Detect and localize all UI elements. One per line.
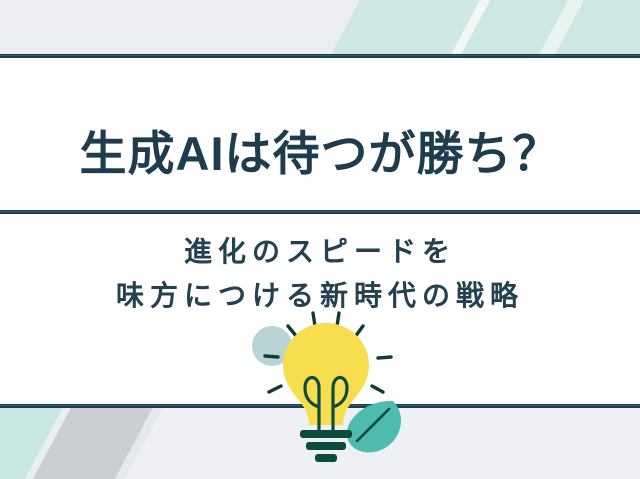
- divider-middle: [0, 210, 640, 214]
- bulb-base-icon: [300, 430, 352, 462]
- lightbulb-illustration: [243, 310, 418, 470]
- leaf-icon: [347, 401, 401, 453]
- top-decorative-band: [0, 0, 640, 55]
- lightbulb-icon: [283, 323, 369, 425]
- presentation-slide: 生成AIは待つが勝ち？ 進化のスピードを 味方につける新時代の戦略: [0, 0, 640, 479]
- page-title: 生成AIは待つが勝ち？: [0, 130, 640, 177]
- subtitle-line-1: 進化のスピードを: [0, 230, 640, 274]
- page-subtitle: 進化のスピードを 味方につける新時代の戦略: [0, 230, 640, 318]
